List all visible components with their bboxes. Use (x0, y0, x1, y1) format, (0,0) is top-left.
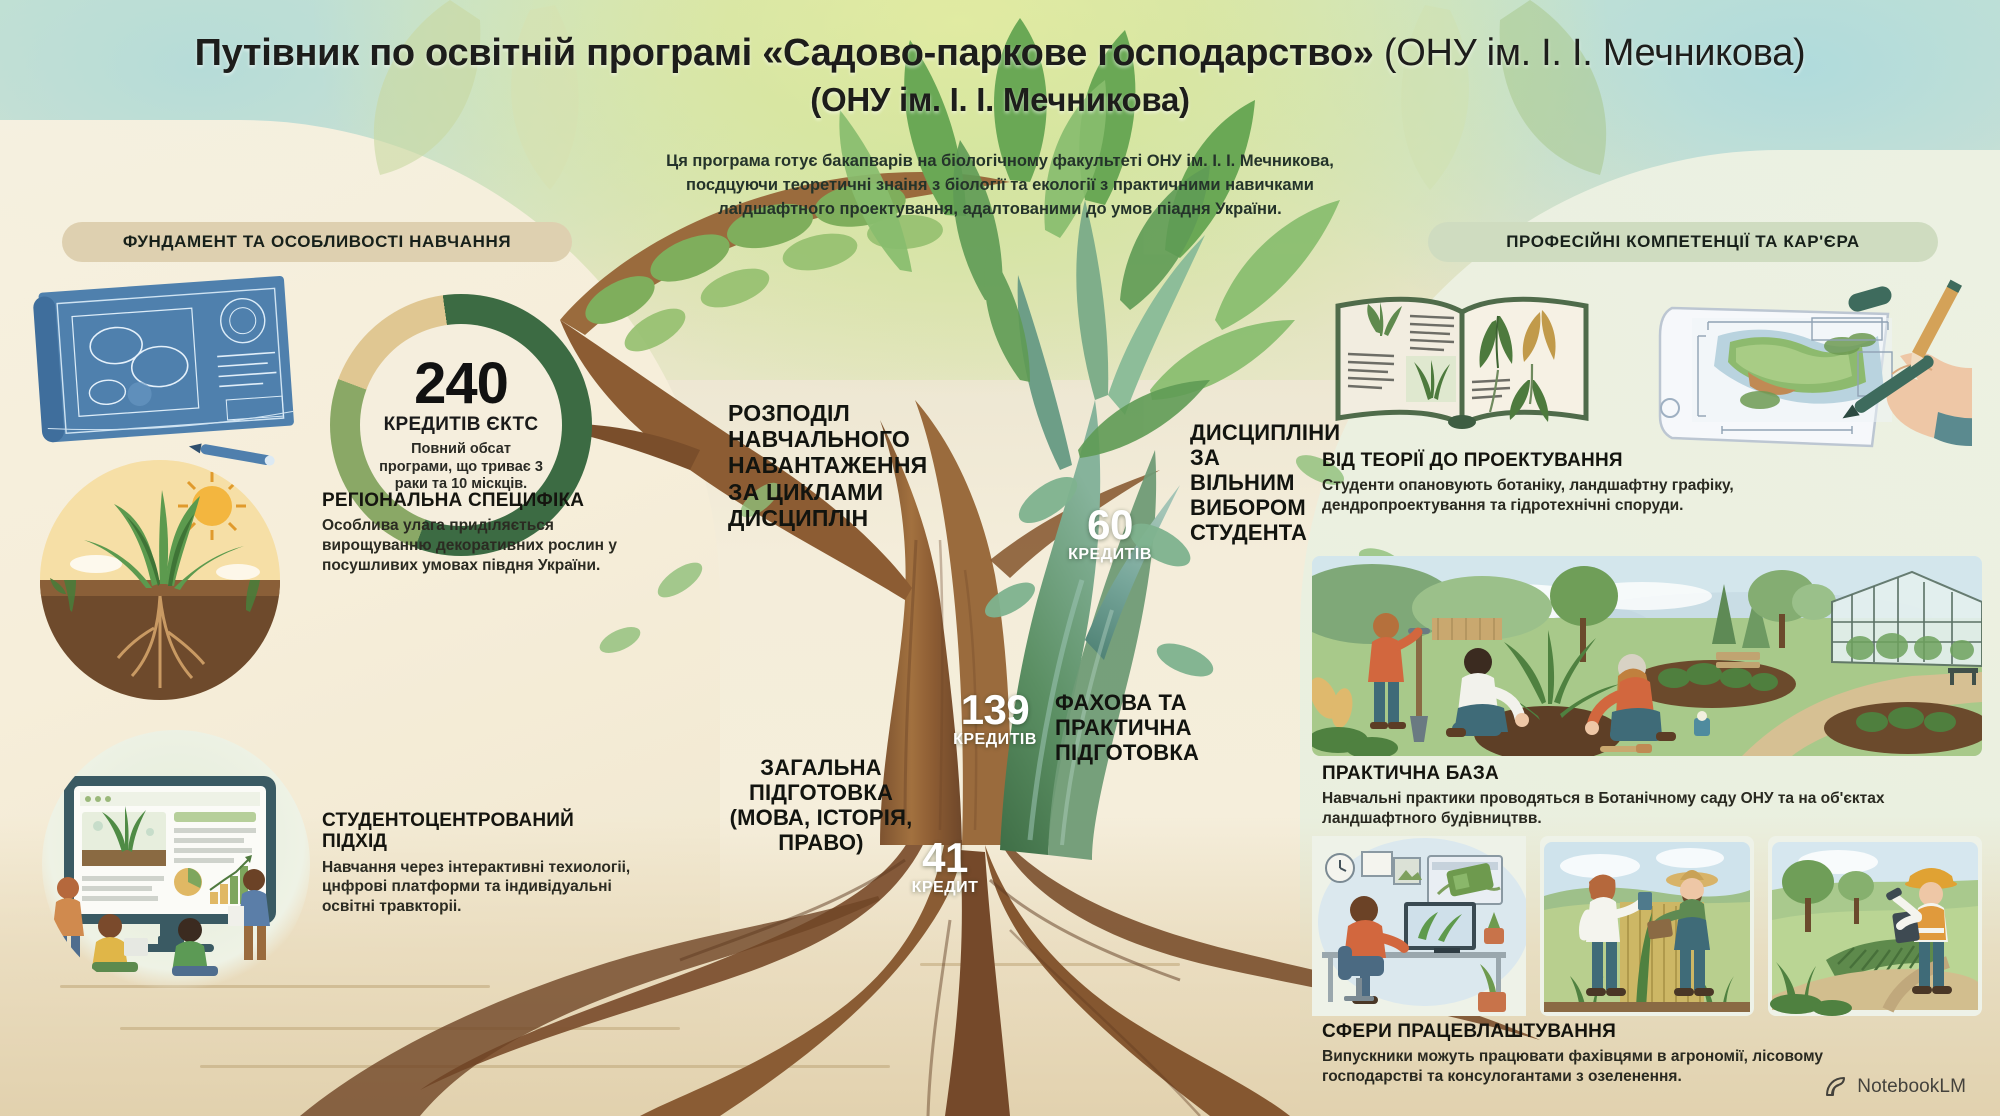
tree-label-elective: ДИСЦИПЛІНИ ЗА ВІЛЬНИМ ВИБОРОМ СТУДЕНТА (1190, 420, 1330, 545)
donut-unit: КРЕДИТІВ ЄКТС (384, 414, 539, 436)
feature-title: СТУДЕНТОЦЕНТРОВАНИЙ ПІДХІД (322, 810, 640, 853)
students-screen-illustration (42, 730, 310, 998)
section-header-right: ПРОФЕСІЙНІ КОМПЕТЕНЦІЇ ТА КАР'ЄРА (1428, 222, 1938, 262)
donut-value: 240 (414, 356, 508, 411)
credit-word: КРЕДИТІВ (930, 731, 1060, 749)
donut-description: Повний обсат програми, що триває 3 раки … (374, 441, 548, 494)
career-scene-survey (1768, 836, 1982, 1016)
credit-number: 139 (930, 690, 1060, 730)
credit-number: 60 (1050, 505, 1170, 545)
feature-employment-areas: СФЕРИ ПРАЦЕВЛАШТУВАННЯ Випускники можуть… (1300, 836, 2000, 1087)
credit-word: КРЕДИТ (890, 879, 1000, 897)
blueprint-illustration (18, 270, 318, 480)
credit-number: 41 (890, 838, 1000, 878)
feature-title: РЕГІОНАЛЬНА СПЕЦИФІКА (322, 490, 640, 511)
feature-title: ВІД ТЕОРІЇ ДО ПРОЕКТУВАННЯ (1322, 451, 1882, 472)
feature-title: СФЕРИ ПРАЦЕВЛАШТУВАННЯ (1322, 1022, 1922, 1043)
feature-theory-to-design: ВІД ТЕОРІЇ ДО ПРОЕКТУВАННЯ Студенти опан… (1300, 276, 2000, 516)
feature-body: Студенти опановують ботаніку, ландшафтну… (1322, 476, 1882, 516)
tree-label-distribution: РОЗПОДІЛ НАВЧАЛЬНОГО НАВАНТАЖЕННЯ ЗА ЦИК… (728, 400, 958, 531)
notebooklm-watermark: NotebookLM (1823, 1074, 1966, 1100)
desert-plant-illustration (40, 460, 280, 700)
title-university: (ОНУ ім. І. І. Мечникова) (1374, 32, 1806, 74)
garden-practice-illustration (1312, 556, 1982, 756)
feature-body: Особлива улага приділяється вирощуванню … (322, 516, 640, 575)
feature-title: ПРАКТИЧНА БАЗА (1322, 764, 1902, 785)
tree-label-professional: ФАХОВА ТА ПРАКТИЧНА ПІДГОТОВКА (1055, 690, 1235, 765)
title-line-1: Путівник по освітній програмі «Садово-па… (80, 30, 1920, 76)
section-header-left: ФУНДАМЕНТ ТА ОСОБЛИВОСТІ НАВЧАННЯ (62, 222, 572, 262)
credit-badge-general: 41 КРЕДИТ (890, 838, 1000, 897)
credit-badge-professional: 139 КРЕДИТІВ (930, 690, 1060, 749)
career-scene-field (1540, 836, 1754, 1016)
title-line-2: (ОНУ ім. І. І. Мечникова) (80, 80, 1920, 120)
book-and-plan-illustration (1322, 276, 1972, 451)
feature-body: Навчання через інтерактивні техиологіі, … (322, 858, 640, 917)
title-main: Путівник по освітній програмі «Садово-па… (195, 32, 1374, 74)
career-scenes-illustration (1312, 836, 1982, 1016)
career-scene-office (1312, 836, 1526, 1016)
feature-regional-specifics: РЕГІОНАЛЬНА СПЕЦИФІКА Особлива улага при… (322, 490, 640, 575)
feature-student-centered: СТУДЕНТОЦЕНТРОВАНИЙ ПІДХІД Навчання чере… (322, 810, 640, 917)
intro-paragraph: Ця програма готує бакапварів на біологіч… (660, 150, 1340, 222)
notebooklm-logo-icon (1823, 1074, 1849, 1100)
page-title: Путівник по освітній програмі «Садово-па… (80, 30, 1920, 121)
feature-body: Навчальні практики проводяться в Ботаніч… (1322, 789, 1902, 829)
watermark-label: NotebookLM (1857, 1076, 1966, 1098)
credit-badge-elective: 60 КРЕДИТІВ (1050, 505, 1170, 564)
feature-practical-base: ПРАКТИЧНА БАЗА Навчальні практики провод… (1300, 556, 2000, 829)
credit-word: КРЕДИТІВ (1050, 546, 1170, 564)
infographic-poster: Путівник по освітній програмі «Садово-па… (0, 0, 2000, 1116)
